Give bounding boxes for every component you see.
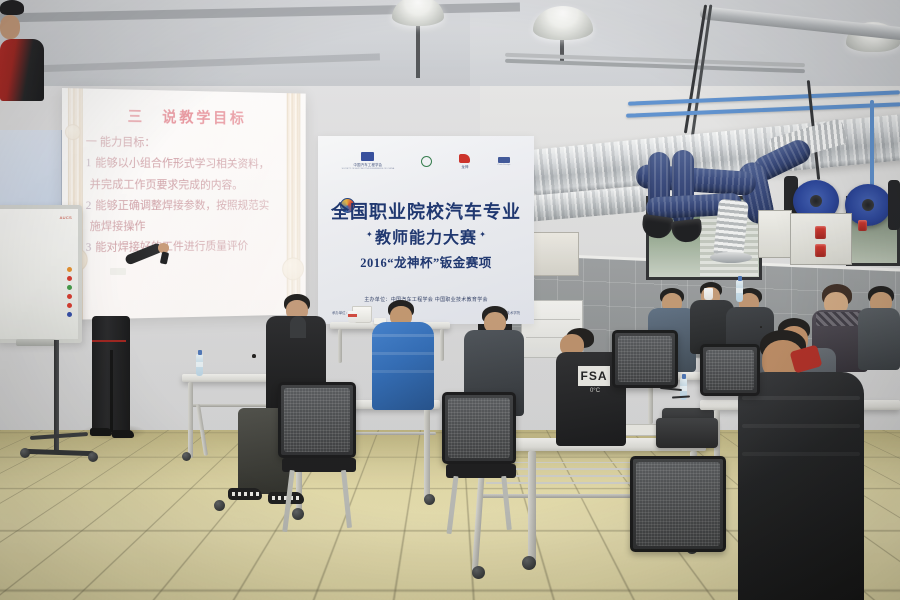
table-leg — [188, 382, 193, 458]
whiteboard: AUCS — [0, 205, 82, 343]
caster-wheel — [182, 452, 191, 461]
saec-logo-icon — [361, 152, 374, 161]
slide-bullet-line: 并完成工作页要求完成的内容。 — [86, 175, 290, 196]
caster-wheel — [88, 452, 98, 462]
slide-ornament — [282, 257, 304, 280]
paper-cup — [348, 311, 357, 323]
slide-bullet-line: 1能够以小组合作形式学习相关资料， — [86, 154, 290, 176]
chair-mesh-back — [284, 388, 350, 452]
sponsor-logo-row: 中国汽车工程学会 SOCIETY OF AUTOMOTIVE ENGINEERS… — [328, 152, 524, 170]
chair — [278, 382, 356, 458]
hose-reel-housing — [888, 180, 900, 230]
attendee-black-puffer-jacket — [738, 372, 864, 600]
whiteboard-brand-label: AUCS — [60, 215, 72, 220]
puffer-seam — [372, 334, 434, 337]
slide-ornament — [65, 124, 81, 140]
presenter-head — [0, 15, 20, 39]
caster-wheel — [522, 556, 536, 570]
caster-wheel — [424, 494, 435, 505]
sponsor-logo — [421, 156, 432, 167]
slide-bullet-text: 能够正确调整焊接参数，按照规范实 — [95, 200, 269, 212]
slide-bullet-line: 2能够正确调整焊接参数，按照规范实 — [86, 196, 290, 217]
presenter-shoe — [90, 428, 112, 436]
duct-collar — [710, 252, 752, 263]
sponsor-logo: 龙神 — [459, 154, 470, 169]
slide-bullet-line: 施焊接操作 — [86, 216, 290, 238]
sponsor-logo: 中国汽车工程学会 SOCIETY OF AUTOMOTIVE ENGINEERS… — [342, 152, 395, 170]
attendee-jacket — [858, 308, 900, 370]
banner-sponsor-line: 主办单位：中国汽车工程学会 中国职业技术教育学会 — [318, 296, 534, 303]
competition-banner: 中国汽车工程学会 SOCIETY OF AUTOMOTIVE ENGINEERS… — [318, 136, 534, 324]
slide-bullet-number: 1 — [86, 157, 92, 169]
slide-bullet-text: 施焊接操作 — [90, 221, 146, 233]
slide-title: 三 说教学目标 — [92, 105, 281, 129]
cup-band — [348, 314, 357, 317]
slide-body: 一 能力目标： 1能够以小组合作形式学习相关资料， 并完成工作页要求完成的内容。… — [86, 132, 290, 259]
slide-bullet-text: 能对焊接好的工件进行质量评价 — [95, 241, 248, 254]
table-leg — [338, 329, 342, 363]
slide-bullet-text: 能够以小组合作形式学习相关资料， — [95, 158, 269, 171]
uniform-stripe — [92, 340, 126, 342]
chair-mesh-back — [618, 336, 672, 382]
flexible-duct — [713, 199, 749, 260]
caster-wheel — [472, 566, 485, 579]
longshen-logo-icon — [459, 154, 470, 163]
banner-star-icon: ✦ — [479, 230, 486, 239]
slide-bullet-line: 3能对焊接好的工件进行质量评价 — [86, 237, 290, 260]
chair — [700, 344, 760, 396]
puffer-seam — [742, 452, 860, 456]
caster-wheel — [20, 448, 30, 458]
green-circle-logo-icon — [421, 156, 432, 167]
control-panel-box — [790, 213, 852, 265]
presentation-slide: 三 说教学目标 一 能力目标： 1能够以小组合作形式学习相关资料， 并完成工作页… — [62, 88, 306, 320]
projection-screen: 三 说教学目标 一 能力目标： 1能够以小组合作形式学习相关资料， 并完成工作页… — [62, 88, 306, 320]
caster-wheel — [292, 508, 304, 520]
power-socket-icon — [815, 244, 826, 257]
laptop-bag — [656, 418, 718, 448]
whiteboard-magnets — [67, 267, 72, 317]
chair-mesh-back — [636, 462, 720, 546]
attendee-hair — [252, 354, 256, 358]
presenter-jacket — [0, 39, 44, 101]
sub-sponsor-label: 承办单位： — [332, 310, 349, 315]
jacket-fsa-label: FSA — [578, 366, 610, 386]
slide-lead-line: 一 能力目标： — [86, 132, 290, 155]
presenter-leg-gap — [110, 350, 113, 432]
puffer-seam — [372, 352, 434, 355]
chair-mesh-back — [706, 350, 754, 390]
puffer-seam — [742, 396, 860, 400]
presenter — [0, 0, 44, 101]
water-bottle — [736, 280, 743, 302]
dome-light-icon — [392, 0, 444, 26]
sponsor-logo-name: Parts Europe — [498, 164, 511, 166]
shoe-stripes — [232, 492, 260, 496]
projector-mount-pole — [416, 18, 420, 78]
presenter-hair — [0, 0, 24, 15]
chair-mesh-back — [448, 398, 510, 458]
power-socket-icon — [815, 226, 826, 239]
banner-title-line1: 全国职业院校汽车专业 — [318, 198, 534, 224]
classroom-photo-scene: P a r t s E u r o p e 三 说教学目标 一 能力目标： 1能… — [0, 0, 900, 600]
puffer-seam — [372, 370, 434, 373]
caster-wheel — [214, 500, 225, 511]
presenter-shoe — [112, 430, 134, 438]
water-bottle — [196, 354, 203, 376]
partseurope-logo-icon — [498, 157, 510, 163]
table-leg — [528, 451, 536, 563]
sponsor-logo-name: 中国汽车工程学会 — [354, 162, 383, 167]
banner-title-line2: 教师能力大赛 — [318, 224, 534, 248]
slide-bullet-number: 3 — [86, 242, 92, 254]
chair — [630, 456, 726, 552]
whiteboard-marker-tray — [16, 339, 56, 346]
attendee-scarf — [816, 312, 860, 326]
chair — [442, 392, 516, 464]
jacket-sub-label: 0°C — [582, 388, 608, 394]
power-socket-icon — [858, 220, 867, 231]
sponsor-logo-sub: SOCIETY OF AUTOMOTIVE ENGINEERS OF CHINA — [342, 168, 395, 170]
slide-bullet-text: 并完成工作页要求完成的内容。 — [90, 179, 243, 191]
slide-bullet-number: 2 — [86, 200, 92, 212]
table-leg — [424, 409, 430, 501]
banner-title-line3: 2016“龙神杯”钣金赛项 — [318, 252, 534, 271]
attendee-hair — [760, 326, 762, 328]
presenter-name-badge — [110, 268, 126, 275]
attendee-hood — [290, 316, 306, 338]
table-leg — [440, 329, 444, 361]
control-panel-box — [758, 210, 792, 258]
sponsor-logo-name: 龙神 — [461, 164, 468, 169]
puffer-seam — [742, 424, 860, 428]
paper-cup — [704, 288, 713, 300]
sponsor-logo: Parts Europe — [498, 157, 511, 166]
chair — [612, 330, 678, 388]
